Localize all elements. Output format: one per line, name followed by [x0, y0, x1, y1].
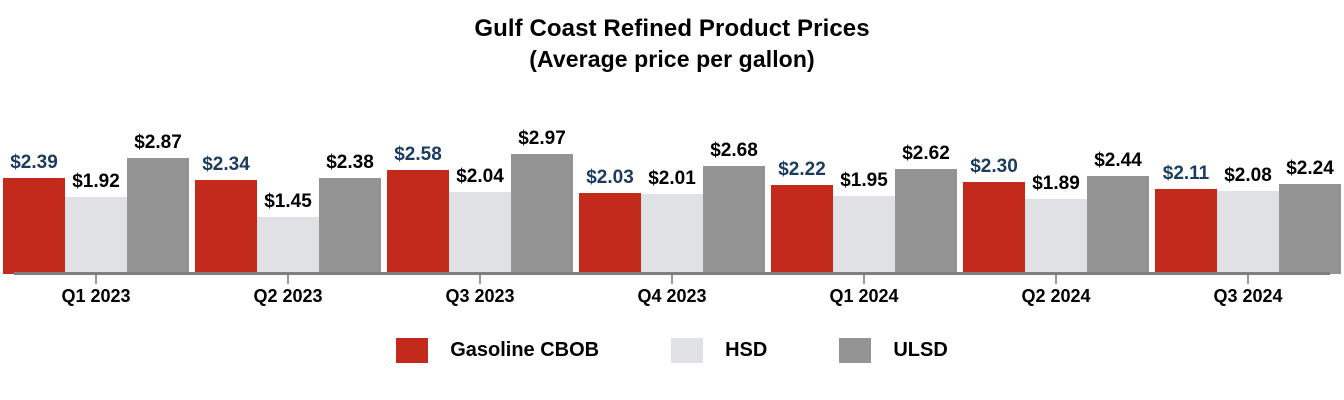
x-axis-tick: [1152, 275, 1344, 285]
tick-mark-icon: [863, 275, 865, 284]
bar-hsd[interactable]: [1217, 191, 1279, 274]
bar-value-label: $1.89: [1032, 174, 1080, 193]
bar-slot-gasoline: $2.03: [579, 104, 641, 274]
bar-gasoline[interactable]: [195, 180, 257, 274]
x-axis-tick: [0, 275, 192, 285]
x-axis-tick: [384, 275, 576, 285]
tick-mark-icon: [479, 275, 481, 284]
bar-ulsd[interactable]: [127, 158, 189, 274]
x-axis-label: Q3 2024: [1152, 285, 1344, 307]
bar-value-label: $1.45: [264, 192, 312, 211]
chart-legend: Gasoline CBOBHSDULSD: [0, 338, 1344, 363]
bar-slot-gasoline: $2.11: [1155, 104, 1217, 274]
bar-ulsd[interactable]: [895, 169, 957, 274]
bar-slot-ulsd: $2.68: [703, 104, 765, 274]
bar-slot-hsd: $1.45: [257, 104, 319, 274]
bar-slot-ulsd: $2.38: [319, 104, 381, 274]
bar-gasoline[interactable]: [579, 193, 641, 274]
bar-slot-ulsd: $2.62: [895, 104, 957, 274]
chart-title-block: Gulf Coast Refined Product Prices (Avera…: [0, 14, 1344, 74]
bar-hsd[interactable]: [641, 194, 703, 274]
bar-slot-gasoline: $2.34: [195, 104, 257, 274]
bar-value-label: $2.68: [710, 141, 758, 160]
legend-item-ulsd[interactable]: ULSD: [839, 338, 947, 363]
bar-value-label: $2.30: [970, 157, 1018, 176]
bar-ulsd[interactable]: [1279, 184, 1341, 274]
bar-slot-hsd: $1.92: [65, 104, 127, 274]
chart-title: Gulf Coast Refined Product Prices: [0, 14, 1344, 44]
bar-slot-hsd: $1.89: [1025, 104, 1087, 274]
bar-group: $2.11$2.08$2.24: [1152, 104, 1344, 274]
x-axis-ticks: [0, 275, 1344, 285]
chart-container: Gulf Coast Refined Product Prices (Avera…: [0, 0, 1344, 400]
bar-slot-hsd: $2.08: [1217, 104, 1279, 274]
bar-ulsd[interactable]: [511, 154, 573, 274]
x-axis-label: Q1 2023: [0, 285, 192, 307]
bar-group: $2.34$1.45$2.38: [192, 104, 384, 274]
legend-label: Gasoline CBOB: [450, 339, 599, 362]
bar-value-label: $2.58: [394, 145, 442, 164]
chart-subtitle: (Average price per gallon): [0, 44, 1344, 74]
bar-value-label: $2.87: [134, 133, 182, 152]
x-axis-label: Q4 2023: [576, 285, 768, 307]
bar-ulsd[interactable]: [319, 178, 381, 274]
bar-group: $2.30$1.89$2.44: [960, 104, 1152, 274]
x-axis-category-labels: Q1 2023Q2 2023Q3 2023Q4 2023Q1 2024Q2 20…: [0, 285, 1344, 307]
x-axis-tick: [576, 275, 768, 285]
bar-value-label: $2.04: [456, 167, 504, 186]
bar-slot-ulsd: $2.44: [1087, 104, 1149, 274]
bar-ulsd[interactable]: [1087, 176, 1149, 274]
legend-label: ULSD: [893, 339, 947, 362]
bar-value-label: $2.24: [1286, 159, 1334, 178]
tick-mark-icon: [95, 275, 97, 284]
bar-group: $2.39$1.92$2.87: [0, 104, 192, 274]
bar-gasoline[interactable]: [963, 182, 1025, 274]
legend-swatch-ulsd: [839, 338, 871, 363]
tick-mark-icon: [1055, 275, 1057, 284]
bar-gasoline[interactable]: [3, 178, 65, 274]
bar-value-label: $2.01: [648, 169, 696, 188]
bar-value-label: $2.08: [1224, 166, 1272, 185]
bar-slot-hsd: $2.01: [641, 104, 703, 274]
bar-slot-hsd: $1.95: [833, 104, 895, 274]
bar-slot-ulsd: $2.24: [1279, 104, 1341, 274]
bar-slot-ulsd: $2.87: [127, 104, 189, 274]
bar-value-label: $1.92: [72, 172, 120, 191]
bar-slot-gasoline: $2.30: [963, 104, 1025, 274]
bar-slot-gasoline: $2.39: [3, 104, 65, 274]
bar-hsd[interactable]: [449, 192, 511, 274]
legend-swatch-hsd: [671, 338, 703, 363]
bar-slot-gasoline: $2.58: [387, 104, 449, 274]
bar-gasoline[interactable]: [771, 185, 833, 274]
bar-hsd[interactable]: [257, 217, 319, 274]
bar-value-label: $2.97: [518, 129, 566, 148]
x-axis-label: Q2 2023: [192, 285, 384, 307]
bar-slot-hsd: $2.04: [449, 104, 511, 274]
x-axis-tick: [768, 275, 960, 285]
bar-value-label: $2.44: [1094, 151, 1142, 170]
bar-hsd[interactable]: [1025, 199, 1087, 274]
bar-groups: $2.39$1.92$2.87$2.34$1.45$2.38$2.58$2.04…: [0, 104, 1344, 274]
x-axis-label: Q3 2023: [384, 285, 576, 307]
tick-mark-icon: [671, 275, 673, 284]
bar-group: $2.58$2.04$2.97: [384, 104, 576, 274]
x-axis-label: Q1 2024: [768, 285, 960, 307]
bar-group: $2.03$2.01$2.68: [576, 104, 768, 274]
bar-value-label: $2.62: [902, 144, 950, 163]
bar-value-label: $2.39: [10, 153, 58, 172]
bar-hsd[interactable]: [65, 197, 127, 274]
bar-value-label: $2.03: [586, 168, 634, 187]
legend-label: HSD: [725, 339, 767, 362]
legend-item-gasoline[interactable]: Gasoline CBOB: [396, 338, 599, 363]
x-axis-tick: [960, 275, 1152, 285]
bar-value-label: $2.34: [202, 155, 250, 174]
bar-value-label: $2.11: [1163, 164, 1210, 183]
tick-mark-icon: [1247, 275, 1249, 284]
bar-hsd[interactable]: [833, 196, 895, 274]
legend-swatch-gasoline: [396, 338, 428, 363]
bar-group: $2.22$1.95$2.62: [768, 104, 960, 274]
bar-slot-ulsd: $2.97: [511, 104, 573, 274]
bar-gasoline[interactable]: [387, 170, 449, 274]
x-axis-label: Q2 2024: [960, 285, 1152, 307]
bar-value-label: $2.38: [326, 153, 374, 172]
bar-ulsd[interactable]: [703, 166, 765, 274]
bar-gasoline[interactable]: [1155, 189, 1217, 274]
bar-value-label: $2.22: [778, 160, 826, 179]
tick-mark-icon: [287, 275, 289, 284]
legend-item-hsd[interactable]: HSD: [671, 338, 767, 363]
bar-slot-gasoline: $2.22: [771, 104, 833, 274]
plot-area: $2.39$1.92$2.87$2.34$1.45$2.38$2.58$2.04…: [0, 104, 1344, 276]
bar-value-label: $1.95: [840, 171, 888, 190]
x-axis-tick: [192, 275, 384, 285]
